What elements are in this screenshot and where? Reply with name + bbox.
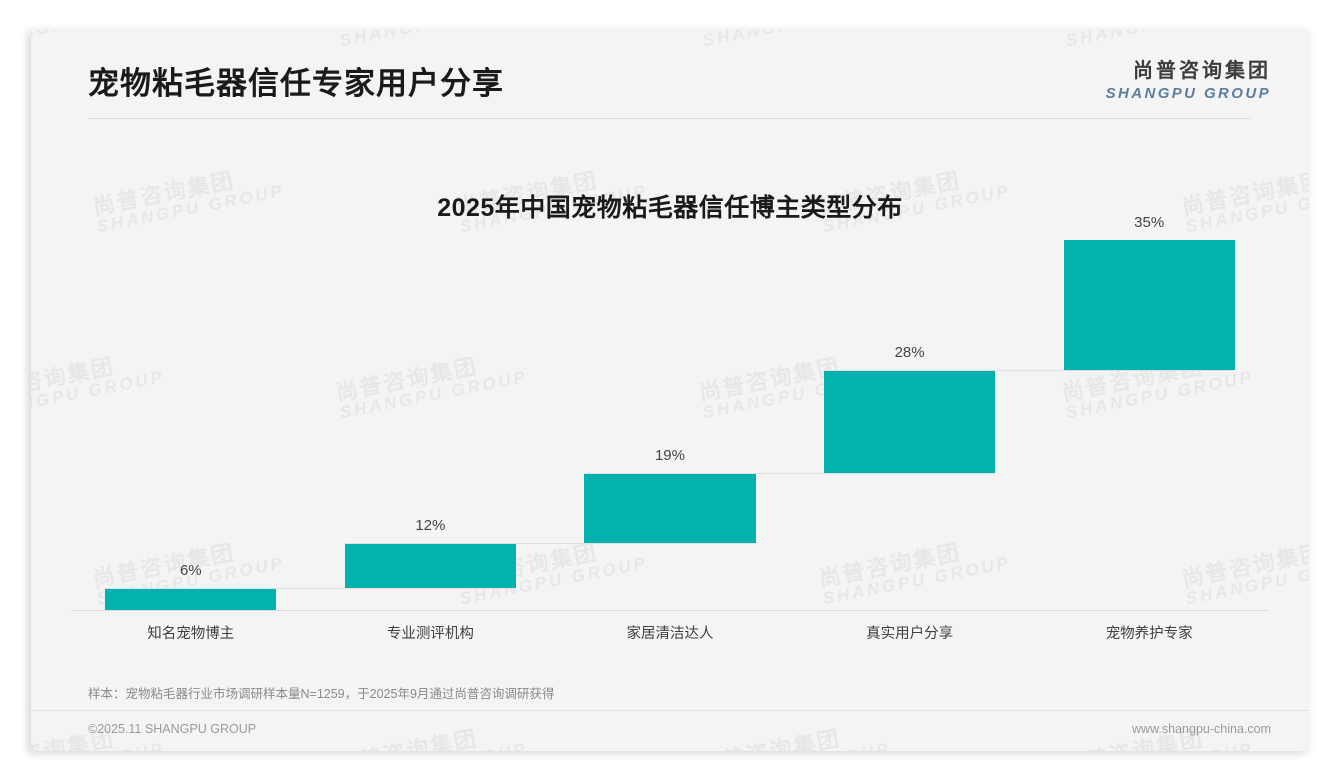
category-label-3: 真实用户分享 [790, 622, 1030, 643]
waterfall-connector-1 [345, 543, 756, 544]
bar-value-label: 28% [824, 344, 995, 361]
bar-0[interactable] [105, 588, 276, 610]
website-text: www.shangpu-china.com [1132, 722, 1271, 736]
sample-footnote: 样本：宠物粘毛器行业市场调研样本量N=1259，于2025年9月通过尚普咨询调研… [88, 683, 554, 702]
waterfall-connector-2 [584, 473, 995, 474]
bar-value-label: 12% [345, 517, 516, 534]
copyright-text: ©2025.11 SHANGPU GROUP [88, 722, 256, 736]
bar-value-label: 35% [1064, 214, 1235, 231]
bar-3[interactable] [824, 370, 995, 474]
waterfall-connector-3 [824, 370, 1235, 371]
bar-value-label: 6% [105, 562, 276, 579]
bar-1[interactable] [345, 543, 516, 587]
brand-logo-en: SHANGPU GROUP [1106, 85, 1271, 102]
header-divider [88, 118, 1251, 119]
brand-logo-cn: 尚普咨询集团 [1106, 54, 1271, 83]
slide-canvas: 尚普咨询集团SHANGPU GROUP尚普咨询集团SHANGPU GROUP尚普… [31, 30, 1309, 751]
slide-header: 宠物粘毛器信任专家用户分享 尚普咨询集团 SHANGPU GROUP [31, 30, 1309, 118]
chart-area: 2025年中国宠物粘毛器信任博主类型分布 6%12%19%28%35% 知名宠物… [31, 130, 1309, 670]
category-label-2: 家居清洁达人 [550, 622, 790, 643]
category-label-4: 宠物养护专家 [1029, 622, 1269, 643]
x-axis-line [71, 610, 1269, 611]
bar-value-label: 19% [584, 447, 755, 464]
bar-4[interactable] [1064, 240, 1235, 370]
brand-logo: 尚普咨询集团 SHANGPU GROUP [1106, 54, 1271, 102]
page-title: 宠物粘毛器信任专家用户分享 [88, 58, 504, 103]
category-label-0: 知名宠物博主 [71, 622, 311, 643]
bar-2[interactable] [584, 473, 755, 543]
category-label-1: 专业测评机构 [311, 622, 551, 643]
waterfall-plot: 6%12%19%28%35% [71, 240, 1269, 610]
slide-footer: ©2025.11 SHANGPU GROUP www.shangpu-china… [31, 711, 1309, 751]
waterfall-connector-0 [105, 588, 516, 589]
